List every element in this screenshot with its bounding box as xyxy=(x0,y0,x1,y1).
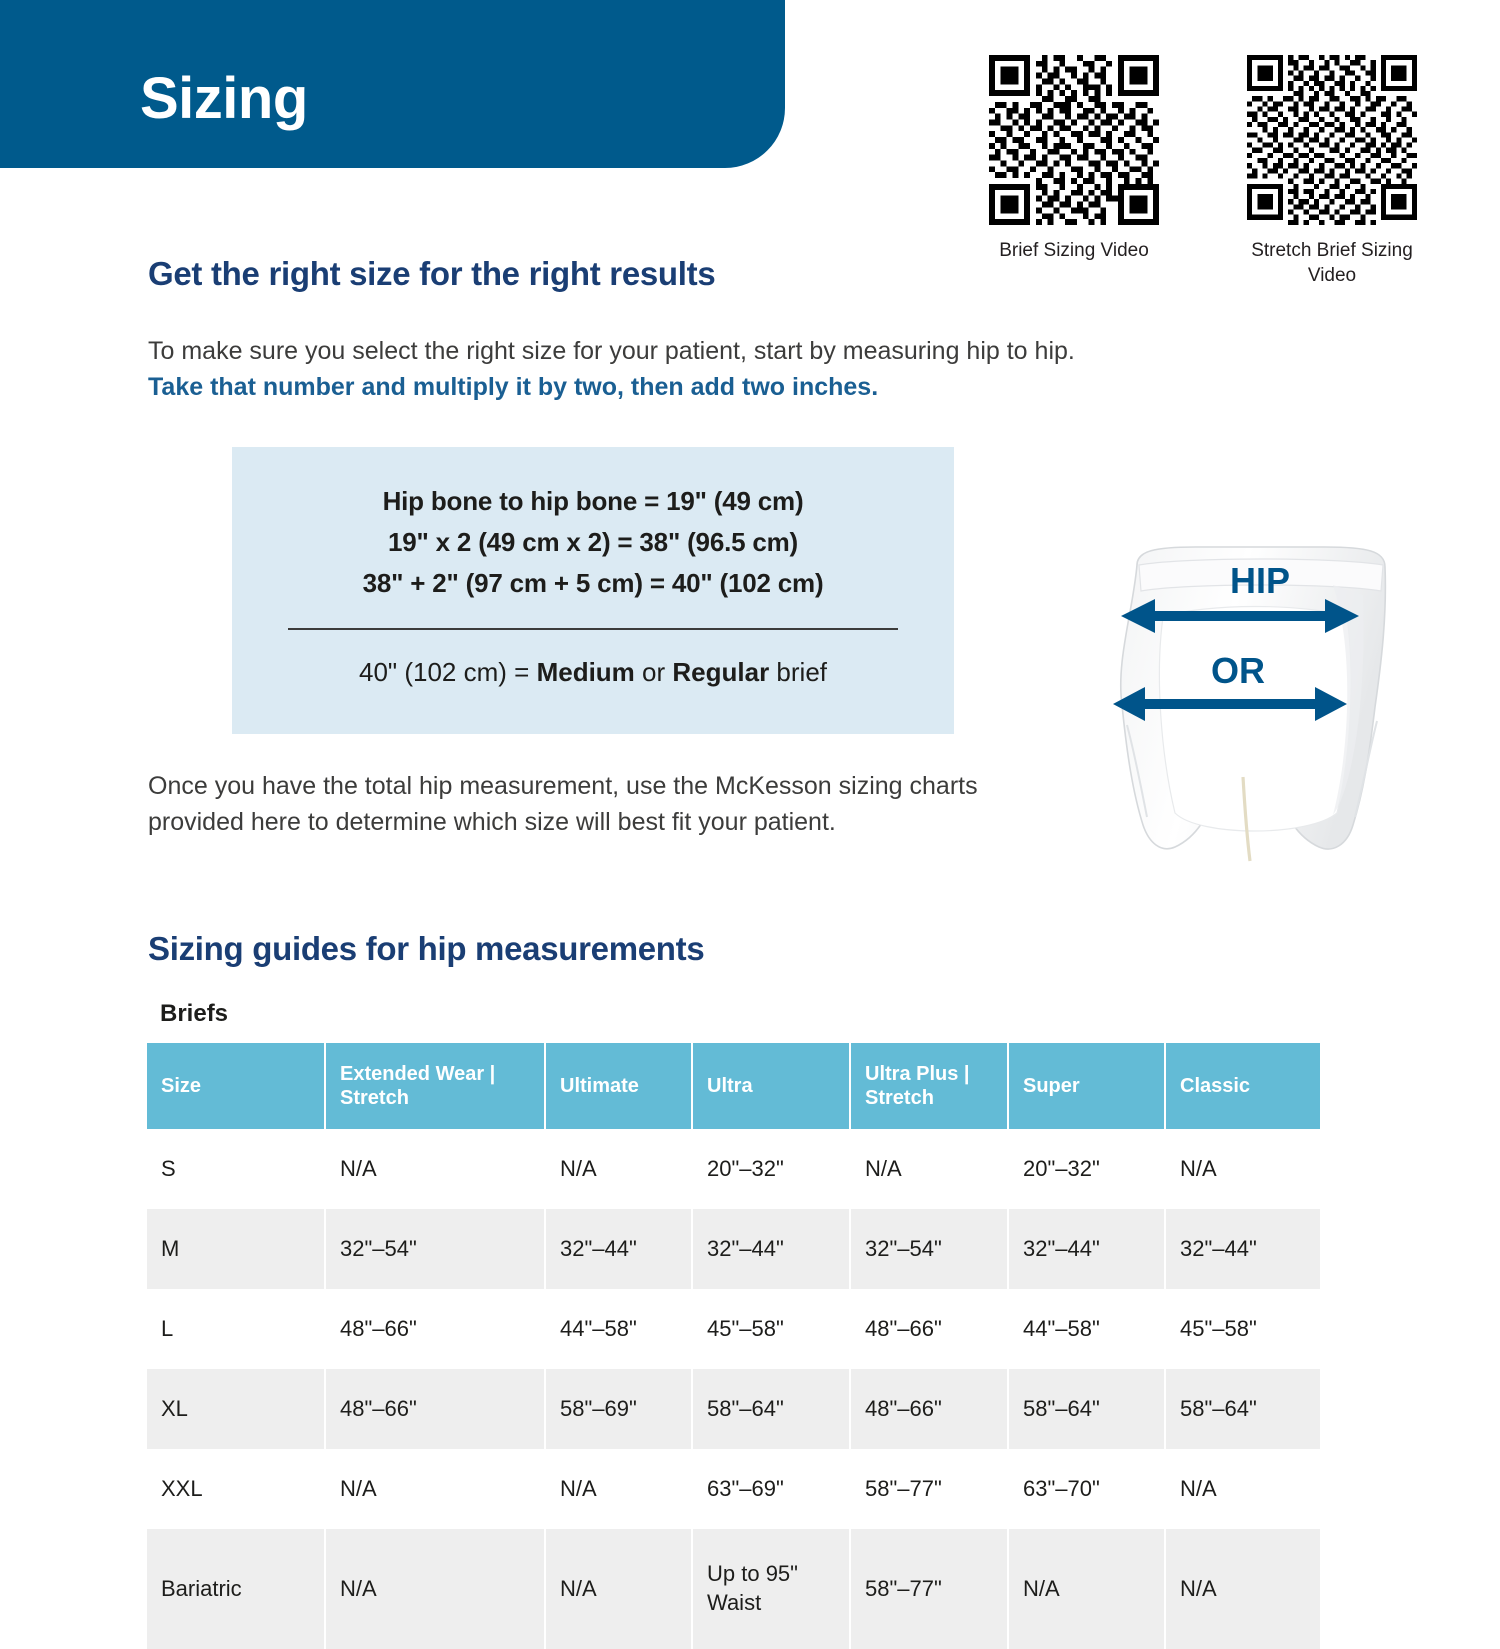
heading-sizing-guides: Sizing guides for hip measurements xyxy=(148,930,704,968)
cell-ultra-plus-stretch: 58"–77" xyxy=(850,1449,1008,1529)
cell-ultra-plus-stretch: 58"–77" xyxy=(850,1529,1008,1649)
column-header-size: Size xyxy=(147,1043,325,1129)
cell-size: XL xyxy=(147,1369,325,1449)
cell-ultra: 32"–44" xyxy=(692,1209,850,1289)
calculation-result: 40" (102 cm) = Medium or Regular brief xyxy=(232,657,954,688)
calculation-divider xyxy=(288,628,898,630)
stretch-brief-sizing-video-qr-icon[interactable] xyxy=(1247,55,1417,225)
column-header-ultra-plus-stretch: Ultra Plus | Stretch xyxy=(850,1043,1008,1129)
qr-code-group: Brief Sizing Video xyxy=(985,55,1460,288)
cell-ultra: 45"–58" xyxy=(692,1289,850,1369)
cell-super: 44"–58" xyxy=(1008,1289,1165,1369)
cell-ultra: Up to 95" Waist xyxy=(692,1529,850,1649)
cell-ultra-plus-stretch: 48"–66" xyxy=(850,1289,1008,1369)
calculation-example-box: Hip bone to hip bone = 19" (49 cm) 19" x… xyxy=(232,447,954,734)
table-row: Bariatric N/A N/A Up to 95" Waist 58"–77… xyxy=(147,1529,1320,1649)
table-header: Size Extended Wear | Stretch Ultimate Ul… xyxy=(147,1043,1320,1129)
cell-ultra-plus-stretch: N/A xyxy=(850,1129,1008,1209)
qr-block-stretch-brief-sizing-video[interactable]: Stretch Brief Sizing Video xyxy=(1243,55,1421,288)
cell-extended-wear-stretch: 48"–66" xyxy=(325,1369,545,1449)
cell-extended-wear-stretch: N/A xyxy=(325,1449,545,1529)
cell-ultimate: 44"–58" xyxy=(545,1289,692,1369)
cell-ultimate: 58"–69" xyxy=(545,1369,692,1449)
calc-result-suffix: brief xyxy=(769,657,827,687)
brief-sizing-video-qr-icon[interactable] xyxy=(989,55,1159,225)
cell-ultra-plus-stretch: 32"–54" xyxy=(850,1209,1008,1289)
page-title: Sizing xyxy=(140,70,308,128)
paragraph-intro-accent: Take that number and multiply it by two,… xyxy=(148,373,878,401)
brief-diagram-svg: HIP OR xyxy=(1075,525,1445,895)
calc-result-size-regular: Regular xyxy=(672,657,769,687)
calculation-lines: Hip bone to hip bone = 19" (49 cm) 19" x… xyxy=(232,447,954,604)
hip-label: HIP xyxy=(1230,560,1290,601)
column-header-ultra: Ultra xyxy=(692,1043,850,1129)
paragraph-once-you-have: Once you have the total hip measurement,… xyxy=(148,768,1048,841)
calc-result-size-medium: Medium xyxy=(537,657,635,687)
brief-product-illustration: HIP OR xyxy=(1075,525,1445,895)
cell-super: 20"–32" xyxy=(1008,1129,1165,1209)
cell-ultra: 58"–64" xyxy=(692,1369,850,1449)
cell-ultimate: 32"–44" xyxy=(545,1209,692,1289)
column-header-extended-wear-stretch: Extended Wear | Stretch xyxy=(325,1043,545,1129)
table-body: S N/A N/A 20"–32" N/A 20"–32" N/A M 32"–… xyxy=(147,1129,1320,1649)
heading-get-the-right-size: Get the right size for the right results xyxy=(148,255,715,293)
cell-super: 58"–64" xyxy=(1008,1369,1165,1449)
qr-block-brief-sizing-video[interactable]: Brief Sizing Video xyxy=(985,55,1163,288)
cell-classic: N/A xyxy=(1165,1529,1320,1649)
cell-ultimate: N/A xyxy=(545,1449,692,1529)
paragraph-intro: To make sure you select the right size f… xyxy=(148,333,1078,406)
table-label-briefs: Briefs xyxy=(160,1000,228,1028)
cell-size: XXL xyxy=(147,1449,325,1529)
cell-ultimate: N/A xyxy=(545,1129,692,1209)
table-row: L 48"–66" 44"–58" 45"–58" 48"–66" 44"–58… xyxy=(147,1289,1320,1369)
cell-ultra: 20"–32" xyxy=(692,1129,850,1209)
column-header-super: Super xyxy=(1008,1043,1165,1129)
cell-super: N/A xyxy=(1008,1529,1165,1649)
calc-result-mid: or xyxy=(635,657,673,687)
cell-ultimate: N/A xyxy=(545,1529,692,1649)
cell-size: L xyxy=(147,1289,325,1369)
table-row: XXL N/A N/A 63"–69" 58"–77" 63"–70" N/A xyxy=(147,1449,1320,1529)
cell-size: M xyxy=(147,1209,325,1289)
cell-extended-wear-stretch: N/A xyxy=(325,1529,545,1649)
cell-classic: 58"–64" xyxy=(1165,1369,1320,1449)
column-header-ultimate: Ultimate xyxy=(545,1043,692,1129)
briefs-sizing-table: Size Extended Wear | Stretch Ultimate Ul… xyxy=(147,1043,1320,1649)
table-header-row: Size Extended Wear | Stretch Ultimate Ul… xyxy=(147,1043,1320,1129)
cell-classic: 45"–58" xyxy=(1165,1289,1320,1369)
header-banner: Sizing xyxy=(0,0,785,168)
calc-line-2: 19" x 2 (49 cm x 2) = 38" (96.5 cm) xyxy=(232,522,954,563)
paragraph-intro-plain: To make sure you select the right size f… xyxy=(148,337,1075,365)
cell-classic: N/A xyxy=(1165,1129,1320,1209)
cell-size: S xyxy=(147,1129,325,1209)
cell-classic: 32"–44" xyxy=(1165,1209,1320,1289)
cell-size: Bariatric xyxy=(147,1529,325,1649)
cell-ultra-plus-stretch: 48"–66" xyxy=(850,1369,1008,1449)
cell-ultra: 63"–69" xyxy=(692,1449,850,1529)
calc-line-1: Hip bone to hip bone = 19" (49 cm) xyxy=(232,481,954,522)
table-row: M 32"–54" 32"–44" 32"–44" 32"–54" 32"–44… xyxy=(147,1209,1320,1289)
calc-line-3: 38" + 2" (97 cm + 5 cm) = 40" (102 cm) xyxy=(232,563,954,604)
cell-classic: N/A xyxy=(1165,1449,1320,1529)
qr-caption-brief-sizing-video: Brief Sizing Video xyxy=(985,239,1163,264)
cell-extended-wear-stretch: 32"–54" xyxy=(325,1209,545,1289)
calc-result-prefix: 40" (102 cm) = xyxy=(359,657,537,687)
table-row: S N/A N/A 20"–32" N/A 20"–32" N/A xyxy=(147,1129,1320,1209)
or-label: OR xyxy=(1211,650,1265,691)
cell-extended-wear-stretch: N/A xyxy=(325,1129,545,1209)
column-header-classic: Classic xyxy=(1165,1043,1320,1129)
cell-extended-wear-stretch: 48"–66" xyxy=(325,1289,545,1369)
qr-caption-stretch-brief-sizing-video: Stretch Brief Sizing Video xyxy=(1243,239,1421,288)
table-row: XL 48"–66" 58"–69" 58"–64" 48"–66" 58"–6… xyxy=(147,1369,1320,1449)
cell-super: 63"–70" xyxy=(1008,1449,1165,1529)
cell-super: 32"–44" xyxy=(1008,1209,1165,1289)
